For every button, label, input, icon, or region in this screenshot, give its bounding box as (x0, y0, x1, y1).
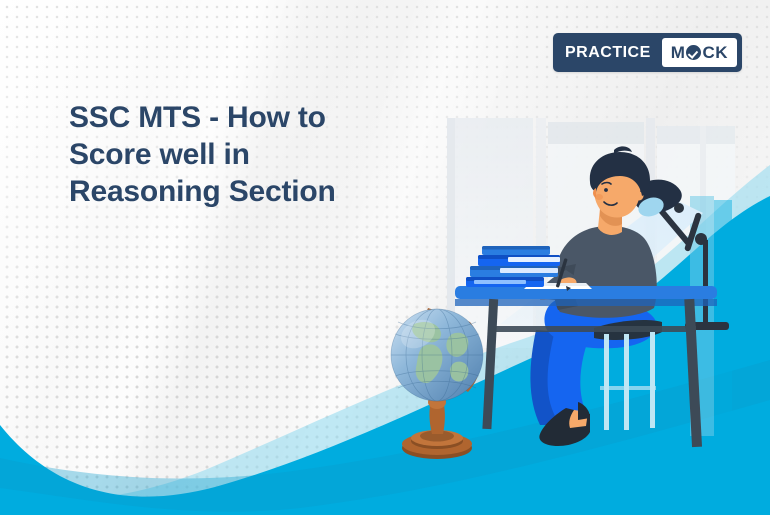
page-title: SSC MTS - How to Score well in Reasoning… (69, 99, 469, 210)
book-label (474, 280, 526, 284)
logo-mock-m: M (671, 43, 686, 63)
cheek (595, 194, 603, 200)
logo-mock-ck: CK (702, 43, 728, 63)
logo-mock-chip: M CK (662, 38, 737, 67)
stool (594, 320, 662, 430)
banner-root: SSC MTS - How to Score well in Reasoning… (0, 0, 770, 515)
brand-logo[interactable]: PRACTICE M CK (553, 33, 742, 72)
check-icon (686, 45, 701, 60)
eye (604, 188, 608, 192)
illustration-student-studying (0, 0, 770, 515)
desk-crossbar (490, 326, 696, 332)
logo-word-practice: PRACTICE (565, 44, 662, 62)
logo-word-mock: M CK (671, 43, 728, 63)
